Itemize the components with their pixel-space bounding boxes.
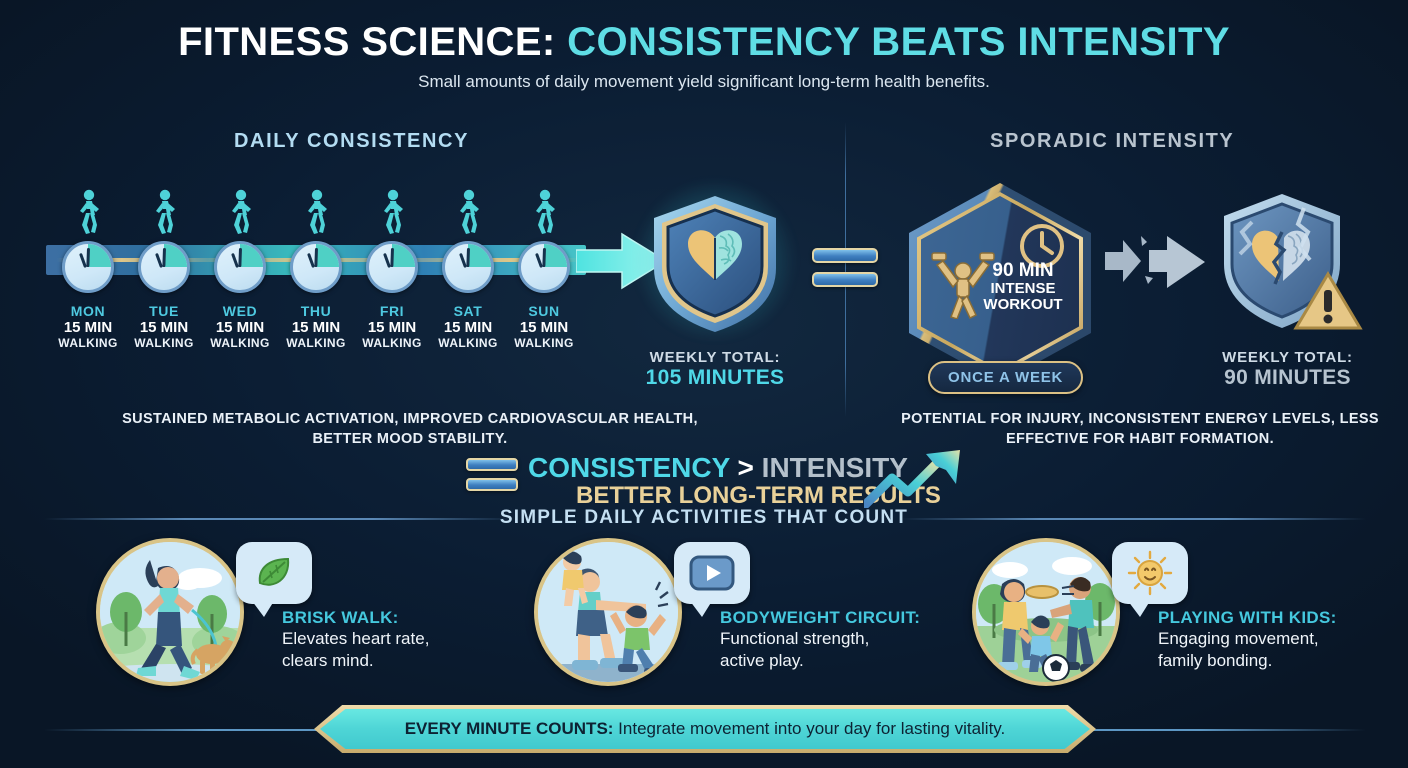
cta-line-1: CONSISTENCY > INTENSITY	[528, 452, 908, 484]
activity-title: BODYWEIGHT CIRCUIT:	[720, 608, 970, 628]
weekly-total-bad: WEEKLY TOTAL: 90 MINUTES	[1205, 188, 1370, 390]
day-name: SAT	[428, 303, 508, 319]
weekly-total-value: 90 MINUTES	[1205, 366, 1370, 390]
day-activity: WALKING	[428, 336, 508, 350]
smiling-sun-icon	[1112, 542, 1188, 604]
clock-icon	[138, 241, 190, 293]
activity-desc-line2: active play.	[720, 650, 970, 672]
clock-icon	[290, 241, 342, 293]
day-minutes: 15 MIN	[352, 319, 432, 336]
weekly-total-label: WEEKLY TOTAL:	[1205, 349, 1370, 366]
timeline-day: FRI 15 MIN WALKING	[352, 185, 432, 350]
activities-heading: SIMPLE DAILY ACTIVITIES THAT COUNT	[0, 507, 1408, 529]
day-name: THU	[276, 303, 356, 319]
clock-icon	[214, 241, 266, 293]
title-part-2: CONSISTENCY BEATS INTENSITY	[567, 20, 1230, 64]
walking-person-icon	[276, 185, 356, 235]
cta-block: CONSISTENCY > INTENSITY BETTER LONG-TERM…	[466, 452, 966, 510]
hex-outer: 90 MIN INTENSE WORKOUT	[909, 183, 1091, 383]
activity-title: BRISK WALK:	[282, 608, 532, 628]
badge-line-1: 90 MIN	[977, 261, 1069, 281]
infographic-canvas: FITNESS SCIENCE: CONSISTENCY BEATS INTEN…	[0, 0, 1408, 768]
day-minutes: 15 MIN	[504, 319, 584, 336]
day-activity: WALKING	[200, 336, 280, 350]
footer-rule-right	[1064, 729, 1366, 731]
leaf-icon	[236, 542, 312, 604]
title-part-1: FITNESS SCIENCE:	[178, 20, 567, 64]
activity-desc-line1: Engaging movement,	[1158, 628, 1408, 650]
footer-banner: EVERY MINUTE COUNTS: Integrate movement …	[320, 709, 1090, 749]
badge-text: 90 MIN INTENSE WORKOUT	[977, 261, 1069, 313]
day-activity: WALKING	[276, 336, 356, 350]
day-minutes: 15 MIN	[200, 319, 280, 336]
cta-consistency: CONSISTENCY	[528, 452, 730, 483]
activity-desc-line2: family bonding.	[1158, 650, 1408, 672]
page-subtitle: Small amounts of daily movement yield si…	[0, 72, 1408, 92]
activity-card[interactable]: BRISK WALK: Elevates heart rate, clears …	[96, 538, 526, 688]
timeline-day: TUE 15 MIN WALKING	[124, 185, 204, 350]
day-activity: WALKING	[352, 336, 432, 350]
day-activity: WALKING	[504, 336, 584, 350]
clock-icon	[518, 241, 570, 293]
walking-person-icon	[504, 185, 584, 235]
page-title: FITNESS SCIENCE: CONSISTENCY BEATS INTEN…	[0, 20, 1408, 65]
clock-icon	[442, 241, 494, 293]
day-name: FRI	[352, 303, 432, 319]
right-panel-heading: SPORADIC INTENSITY	[990, 130, 1234, 153]
intense-workout-badge: 90 MIN INTENSE WORKOUT ONCE A WEEK	[900, 183, 1100, 383]
walking-person-icon	[124, 185, 204, 235]
day-minutes: 15 MIN	[428, 319, 508, 336]
play-button-icon	[674, 542, 750, 604]
activity-card-text: BODYWEIGHT CIRCUIT: Functional strength,…	[720, 608, 970, 672]
day-minutes: 15 MIN	[48, 319, 128, 336]
activity-card[interactable]: PLAYING WITH KIDS: Engaging movement, fa…	[972, 538, 1402, 688]
weekly-total-label: WEEKLY TOTAL:	[640, 349, 790, 366]
weekly-timeline: MON 15 MIN WALKING TUE 15 MIN WALKING	[40, 185, 640, 365]
frequency-pill: ONCE A WEEK	[928, 361, 1083, 394]
equals-icon	[466, 458, 518, 498]
day-name: SUN	[504, 303, 584, 319]
benefits-text: SUSTAINED METABOLIC ACTIVATION, IMPROVED…	[95, 410, 725, 449]
walking-person-icon	[352, 185, 432, 235]
activity-desc-line2: clears mind.	[282, 650, 532, 672]
timeline-day: WED 15 MIN WALKING	[200, 185, 280, 350]
weekly-total-value: 105 MINUTES	[640, 366, 790, 390]
walking-person-icon	[48, 185, 128, 235]
clock-icon	[366, 241, 418, 293]
timeline-day: THU 15 MIN WALKING	[276, 185, 356, 350]
activity-card-text: BRISK WALK: Elevates heart rate, clears …	[282, 608, 532, 672]
equals-icon	[812, 248, 878, 296]
activity-card[interactable]: BODYWEIGHT CIRCUIT: Functional strength,…	[534, 538, 964, 688]
activity-desc-line1: Elevates heart rate,	[282, 628, 532, 650]
drawbacks-text: POTENTIAL FOR INJURY, INCONSISTENT ENERG…	[900, 410, 1380, 449]
footer-bold: EVERY MINUTE COUNTS:	[405, 719, 614, 738]
footer-banner-text: EVERY MINUTE COUNTS: Integrate movement …	[405, 719, 1006, 739]
footer-rest: Integrate movement into your day for las…	[613, 719, 1005, 738]
day-name: MON	[48, 303, 128, 319]
weekly-total-good: WEEKLY TOTAL: 105 MINUTES	[640, 188, 790, 390]
woman-walking-dog-icon	[96, 538, 244, 686]
badge-line-3: WORKOUT	[977, 297, 1069, 313]
activity-title: PLAYING WITH KIDS:	[1158, 608, 1408, 628]
upward-trend-arrow-icon	[864, 448, 976, 508]
walking-person-icon	[200, 185, 280, 235]
timeline-day: MON 15 MIN WALKING	[48, 185, 128, 350]
family-playing-frisbee-icon	[972, 538, 1120, 686]
day-minutes: 15 MIN	[276, 319, 356, 336]
activity-desc-line1: Functional strength,	[720, 628, 970, 650]
walking-person-icon	[428, 185, 508, 235]
day-minutes: 15 MIN	[124, 319, 204, 336]
badge-line-2: INTENSE	[977, 281, 1069, 297]
activity-card-text: PLAYING WITH KIDS: Engaging movement, fa…	[1158, 608, 1408, 672]
broken-arrow-icon	[1105, 228, 1215, 298]
shield-heart-brain-icon	[640, 188, 790, 338]
day-activity: WALKING	[48, 336, 128, 350]
day-activity: WALKING	[124, 336, 204, 350]
clock-icon	[62, 241, 114, 293]
parent-squat-with-kids-icon	[534, 538, 682, 686]
cta-operator: >	[730, 452, 762, 483]
cracked-shield-broken-heart-icon	[1212, 188, 1364, 338]
day-name: TUE	[124, 303, 204, 319]
timeline-day: SUN 15 MIN WALKING	[504, 185, 584, 350]
left-panel-heading: DAILY CONSISTENCY	[234, 130, 469, 153]
footer-rule-left	[44, 729, 344, 731]
day-name: WED	[200, 303, 280, 319]
timeline-day: SAT 15 MIN WALKING	[428, 185, 508, 350]
